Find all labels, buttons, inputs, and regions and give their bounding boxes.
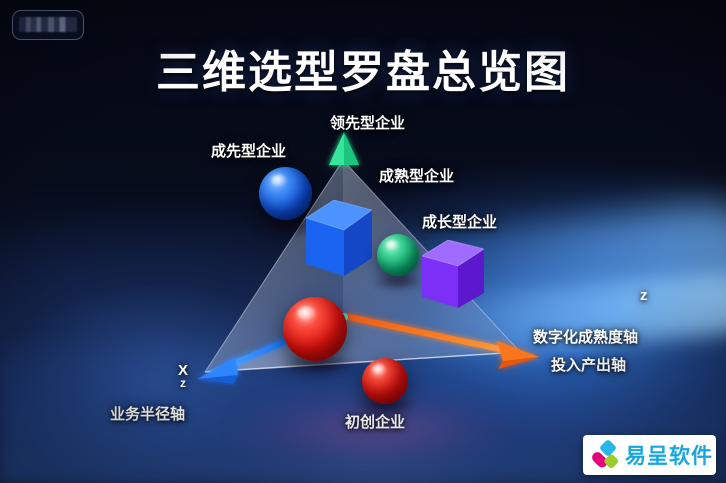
label-leading-enterprise: 领先型企业 <box>330 112 405 133</box>
axis-letter-z: z <box>640 287 648 304</box>
axis-label-input-output: 投入产出轴 <box>551 354 626 375</box>
axis-label-digital-maturity: 数字化成熟度轴 <box>533 326 638 347</box>
brand-logo: 易呈软件 <box>583 435 716 475</box>
three-d-compass-diagram: 领先型企业 成先型企业 成熟型企业 成长型企业 初创企业 X z 业务半径轴 z… <box>0 0 726 483</box>
label-mature-enterprise: 成熟型企业 <box>379 165 454 186</box>
logo-diamond-icon <box>590 440 620 470</box>
red-sphere-small <box>362 358 408 404</box>
logo-text: 易呈软件 <box>625 440 713 470</box>
red-sphere-large <box>283 297 347 361</box>
green-sphere-shadow <box>375 275 423 288</box>
slide-canvas: 三维选型罗盘总览图 <box>0 0 726 483</box>
label-startup-enterprise: 初创企业 <box>345 411 405 432</box>
axis-label-business-radius: 业务半径轴 <box>110 403 185 424</box>
label-pioneer-enterprise: 成先型企业 <box>211 140 286 161</box>
blue-sphere <box>259 167 312 220</box>
axis-letter-x-sub: z <box>180 376 186 390</box>
green-sphere <box>377 234 419 276</box>
label-growth-enterprise: 成长型企业 <box>422 211 497 232</box>
